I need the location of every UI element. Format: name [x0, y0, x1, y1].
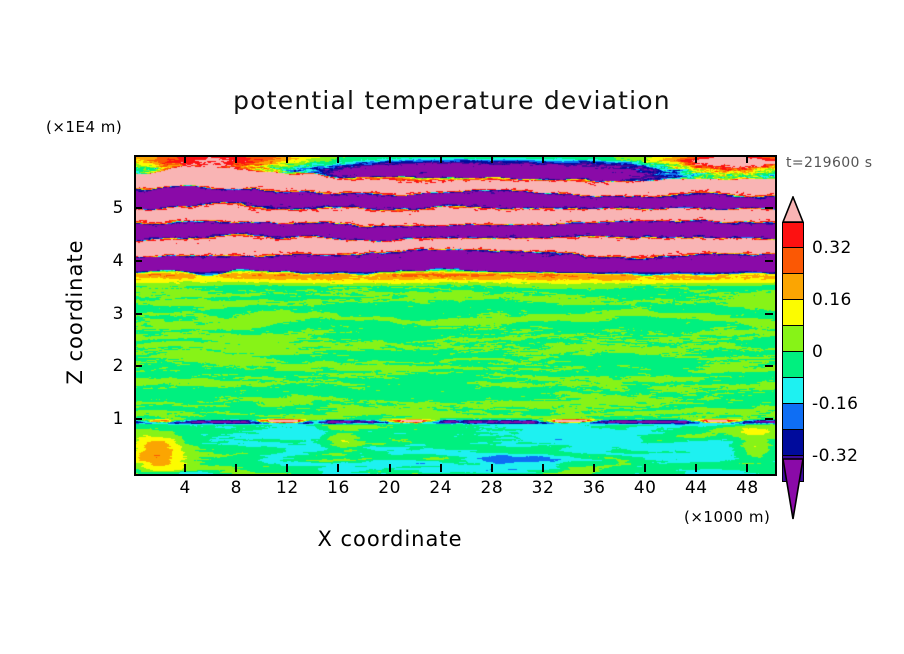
- colorbar-band: [782, 326, 804, 352]
- colorbar-band: [782, 430, 804, 456]
- colorbar-band: [782, 404, 804, 430]
- tick-x: [542, 464, 544, 472]
- tick-label-y: 2: [100, 356, 124, 376]
- tick-x: [184, 464, 186, 472]
- tick-x-top: [695, 155, 697, 163]
- colorbar-cap-bottom: [782, 458, 804, 520]
- colorbar: [782, 222, 804, 482]
- colorbar-band: [782, 352, 804, 378]
- tick-label-y: 3: [100, 304, 124, 324]
- tick-x-top: [644, 155, 646, 163]
- tick-y-right: [765, 365, 773, 367]
- tick-x-top: [491, 155, 493, 163]
- tick-x: [389, 464, 391, 472]
- tick-label-x: 40: [634, 478, 657, 498]
- y-axis-title: Z coordinate: [63, 212, 87, 412]
- z-axis-units-label: (×1E4 m): [46, 118, 122, 136]
- tick-x: [593, 464, 595, 472]
- tick-x-top: [337, 155, 339, 163]
- tick-y: [134, 365, 142, 367]
- tick-label-x: 4: [179, 478, 190, 498]
- tick-x: [746, 464, 748, 472]
- tick-label-x: 48: [736, 478, 759, 498]
- colorbar-tick-label: -0.32: [812, 446, 859, 466]
- colorbar-tick-label: -0.16: [812, 394, 859, 414]
- colorbar-band: [782, 248, 804, 274]
- tick-x: [440, 464, 442, 472]
- tick-y-right: [765, 207, 773, 209]
- colorbar-tick-label: 0: [812, 342, 823, 362]
- tick-x: [644, 464, 646, 472]
- tick-label-x: 12: [276, 478, 299, 498]
- colorbar-band: [782, 222, 804, 248]
- tick-x-top: [440, 155, 442, 163]
- colorbar-band: [782, 300, 804, 326]
- tick-y-right: [765, 260, 773, 262]
- tick-x: [491, 464, 493, 472]
- tick-label-y: 5: [100, 198, 124, 218]
- tick-label-x: 8: [231, 478, 242, 498]
- tick-x: [286, 464, 288, 472]
- tick-x-top: [746, 155, 748, 163]
- tick-y: [134, 418, 142, 420]
- tick-y-right: [765, 313, 773, 315]
- tick-x: [695, 464, 697, 472]
- figure-root: potential temperature deviation (×1E4 m)…: [0, 0, 904, 654]
- tick-x-top: [593, 155, 595, 163]
- x-axis-title: X coordinate: [0, 527, 780, 551]
- temperature-deviation-field: [136, 157, 775, 474]
- tick-label-x: 44: [685, 478, 708, 498]
- tick-x: [337, 464, 339, 472]
- tick-x-top: [184, 155, 186, 163]
- tick-label-x: 36: [583, 478, 606, 498]
- tick-label-y: 1: [100, 409, 124, 429]
- tick-label-x: 32: [532, 478, 555, 498]
- tick-y: [134, 207, 142, 209]
- colorbar-band: [782, 274, 804, 300]
- page-title: potential temperature deviation: [0, 86, 904, 115]
- tick-x-top: [389, 155, 391, 163]
- colorbar-tick-label: 0.16: [812, 290, 852, 310]
- tick-x-top: [235, 155, 237, 163]
- tick-label-x: 20: [378, 478, 401, 498]
- tick-y: [134, 260, 142, 262]
- tick-label-y: 4: [100, 251, 124, 271]
- tick-label-x: 16: [327, 478, 350, 498]
- tick-x-top: [286, 155, 288, 163]
- x-axis-units-label: (×1000 m): [684, 508, 770, 526]
- colorbar-cap-top: [782, 196, 804, 223]
- tick-y: [134, 313, 142, 315]
- time-annotation: t=219600 s: [786, 155, 872, 171]
- tick-y-right: [765, 418, 773, 420]
- colorbar-band: [782, 378, 804, 404]
- colorbar-tick-label: 0.32: [812, 238, 852, 258]
- tick-x-top: [542, 155, 544, 163]
- tick-label-x: 24: [429, 478, 452, 498]
- contour-plot-area: [134, 155, 777, 476]
- tick-x: [235, 464, 237, 472]
- tick-label-x: 28: [481, 478, 504, 498]
